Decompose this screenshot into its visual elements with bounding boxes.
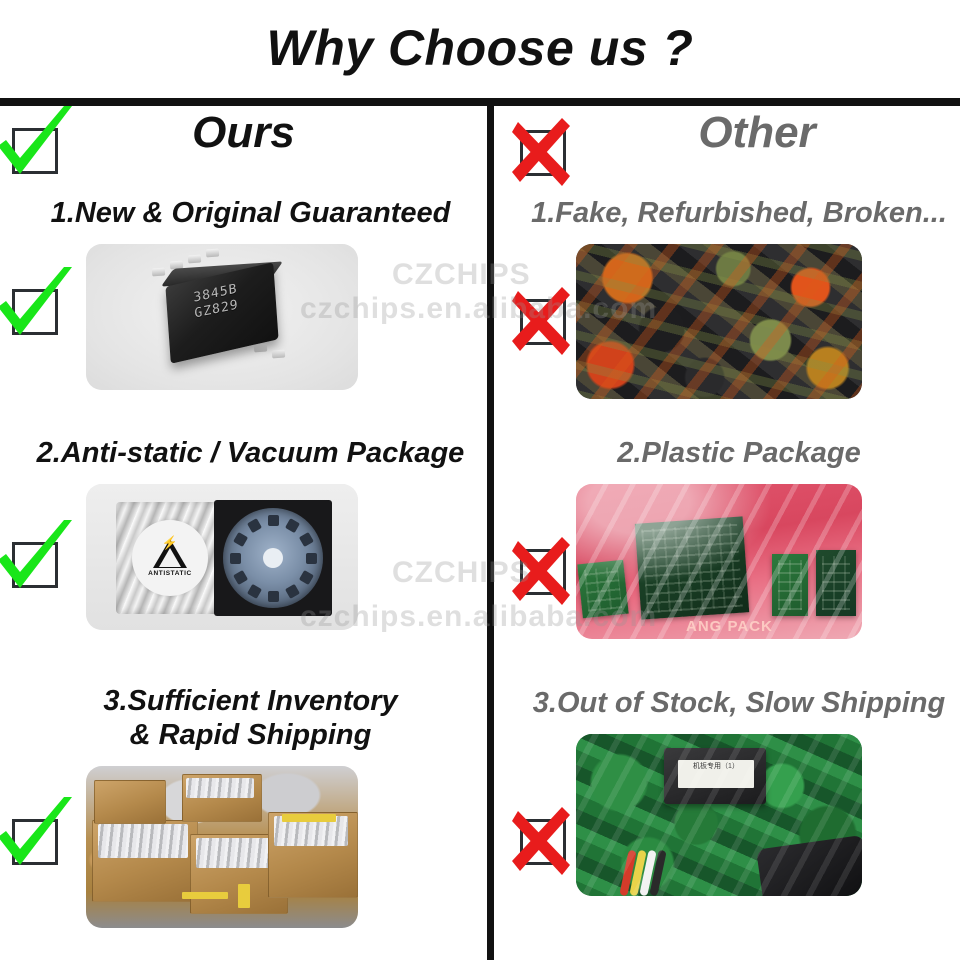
other-feature-3-photo: 机板专用（1）	[576, 734, 862, 896]
other-feature-1-photo	[576, 244, 862, 399]
cross-icon-feature-2	[520, 549, 566, 595]
scrap-chip-pile-photo	[576, 244, 862, 399]
other-feature-1-label: 1.Fake, Refurbished, Broken...	[494, 196, 960, 230]
ours-heading: Ours	[0, 108, 517, 158]
other-column: Other 1.Fake, Refurbished, Broken... 2.P…	[494, 106, 960, 960]
ours-feature-2-label: 2.Anti-static / Vacuum Package	[0, 436, 487, 470]
cross-icon-header	[520, 130, 566, 176]
cross-mark-icon	[512, 120, 576, 188]
ours-column: Ours 1.New & Original Guaranteed 3845B G…	[0, 106, 487, 960]
other-feature-3-label: 3.Out of Stock, Slow Shipping	[494, 686, 960, 720]
check-mark-icon	[0, 267, 76, 345]
why-choose-us-infographic: Why Choose us ? Ours 1.New & Original Gu…	[0, 0, 960, 960]
other-feature-2-photo: ANG PACK	[576, 484, 862, 639]
other-feature-2-label: 2.Plastic Package	[494, 436, 960, 470]
ours-feature-1-label: 1.New & Original Guaranteed	[0, 196, 487, 230]
component-reel	[223, 508, 323, 608]
cross-icon-feature-1	[520, 299, 566, 345]
ours-feature-2-photo: ⚡ ANTISTATIC	[86, 484, 358, 630]
check-mark-icon	[0, 106, 76, 184]
header-divider-line	[0, 98, 960, 106]
stocked-boxes-photo	[86, 766, 358, 928]
check-icon-header	[12, 128, 58, 174]
ours-feature-3-label: 3.Sufficient Inventory & Rapid Shipping	[0, 684, 487, 752]
antistatic-label: ⚡ ANTISTATIC	[132, 520, 208, 596]
ours-feature-3-photo	[86, 766, 358, 928]
module-label: 机板专用（1）	[678, 760, 754, 788]
pink-plastic-bag-pcb-photo: ANG PACK	[576, 484, 862, 639]
green-pcb-scrap-photo: 机板专用（1）	[576, 734, 862, 896]
reel-tray	[214, 500, 332, 616]
antistatic-bag-and-reel-photo: ⚡ ANTISTATIC	[86, 484, 358, 630]
plastic-bag-sheen	[576, 484, 862, 639]
pack-watermark: ANG PACK	[686, 618, 773, 635]
ic-chip-photo: 3845B GZ829	[86, 244, 358, 390]
antistatic-caption: ANTISTATIC	[148, 570, 192, 577]
check-icon-feature-3	[12, 819, 58, 865]
check-mark-icon	[0, 797, 76, 875]
column-divider-line	[487, 106, 494, 960]
page-title: Why Choose us ?	[267, 19, 694, 77]
cross-mark-icon	[512, 809, 576, 877]
other-feature-2: 2.Plastic Package ANG PACK	[494, 436, 960, 639]
cross-mark-icon	[512, 289, 576, 357]
lightning-bolt-icon: ⚡	[162, 536, 178, 549]
cross-mark-icon	[512, 539, 576, 607]
title-bar: Why Choose us ?	[0, 0, 960, 96]
black-scrap-part	[756, 835, 862, 896]
cross-icon-feature-3	[520, 819, 566, 865]
ours-feature-1-photo: 3845B GZ829	[86, 244, 358, 390]
check-icon-feature-1	[12, 289, 58, 335]
check-icon-feature-2	[12, 542, 58, 588]
antistatic-foil-bag: ⚡ ANTISTATIC	[116, 502, 224, 614]
check-mark-icon	[0, 520, 76, 598]
black-module: 机板专用（1）	[664, 748, 766, 804]
